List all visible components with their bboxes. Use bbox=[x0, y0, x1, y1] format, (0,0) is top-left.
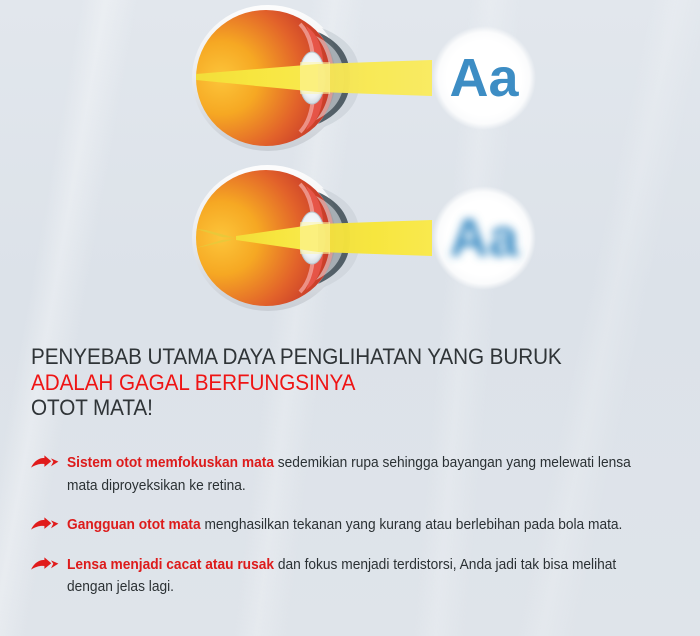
list-item-text: Gangguan otot mata menghasilkan tekanan … bbox=[67, 514, 648, 537]
list-item: Lensa menjadi cacat atau rusak dan fokus… bbox=[30, 554, 675, 599]
list-item-text: Lensa menjadi cacat atau rusak dan fokus… bbox=[67, 554, 648, 599]
headline-line-3: OTOT MATA! bbox=[31, 395, 620, 421]
bullet-list: Sistem otot memfokuskan mata sedemikian … bbox=[30, 452, 675, 599]
blurred-eye-diagram: Aa bbox=[0, 160, 700, 330]
list-item: Sistem otot memfokuskan mata sedemikian … bbox=[30, 452, 675, 497]
letter-sample-blurred: Aa bbox=[449, 208, 519, 268]
headline-line-1: PENYEBAB UTAMA DAYA PENGLIHATAN YANG BUR… bbox=[31, 344, 620, 370]
normal-eye-diagram: Aa bbox=[0, 0, 700, 160]
red-arrow-icon bbox=[30, 557, 60, 576]
headline-block: PENYEBAB UTAMA DAYA PENGLIHATAN YANG BUR… bbox=[31, 344, 671, 421]
letter-sample-sharp: Aa bbox=[449, 48, 519, 108]
red-arrow-icon bbox=[30, 455, 60, 474]
list-item: Gangguan otot mata menghasilkan tekanan … bbox=[30, 514, 675, 537]
red-arrow-icon bbox=[30, 517, 60, 536]
list-item-lead: Lensa menjadi cacat atau rusak bbox=[67, 557, 274, 573]
headline-line-2: ADALAH GAGAL BERFUNGSINYA bbox=[31, 370, 620, 396]
list-item-rest: menghasilkan tekanan yang kurang atau be… bbox=[201, 517, 623, 533]
infographic-page: Aa bbox=[0, 0, 700, 636]
list-item-lead: Gangguan otot mata bbox=[67, 517, 201, 533]
list-item-text: Sistem otot memfokuskan mata sedemikian … bbox=[67, 452, 648, 497]
list-item-lead: Sistem otot memfokuskan mata bbox=[67, 455, 274, 471]
